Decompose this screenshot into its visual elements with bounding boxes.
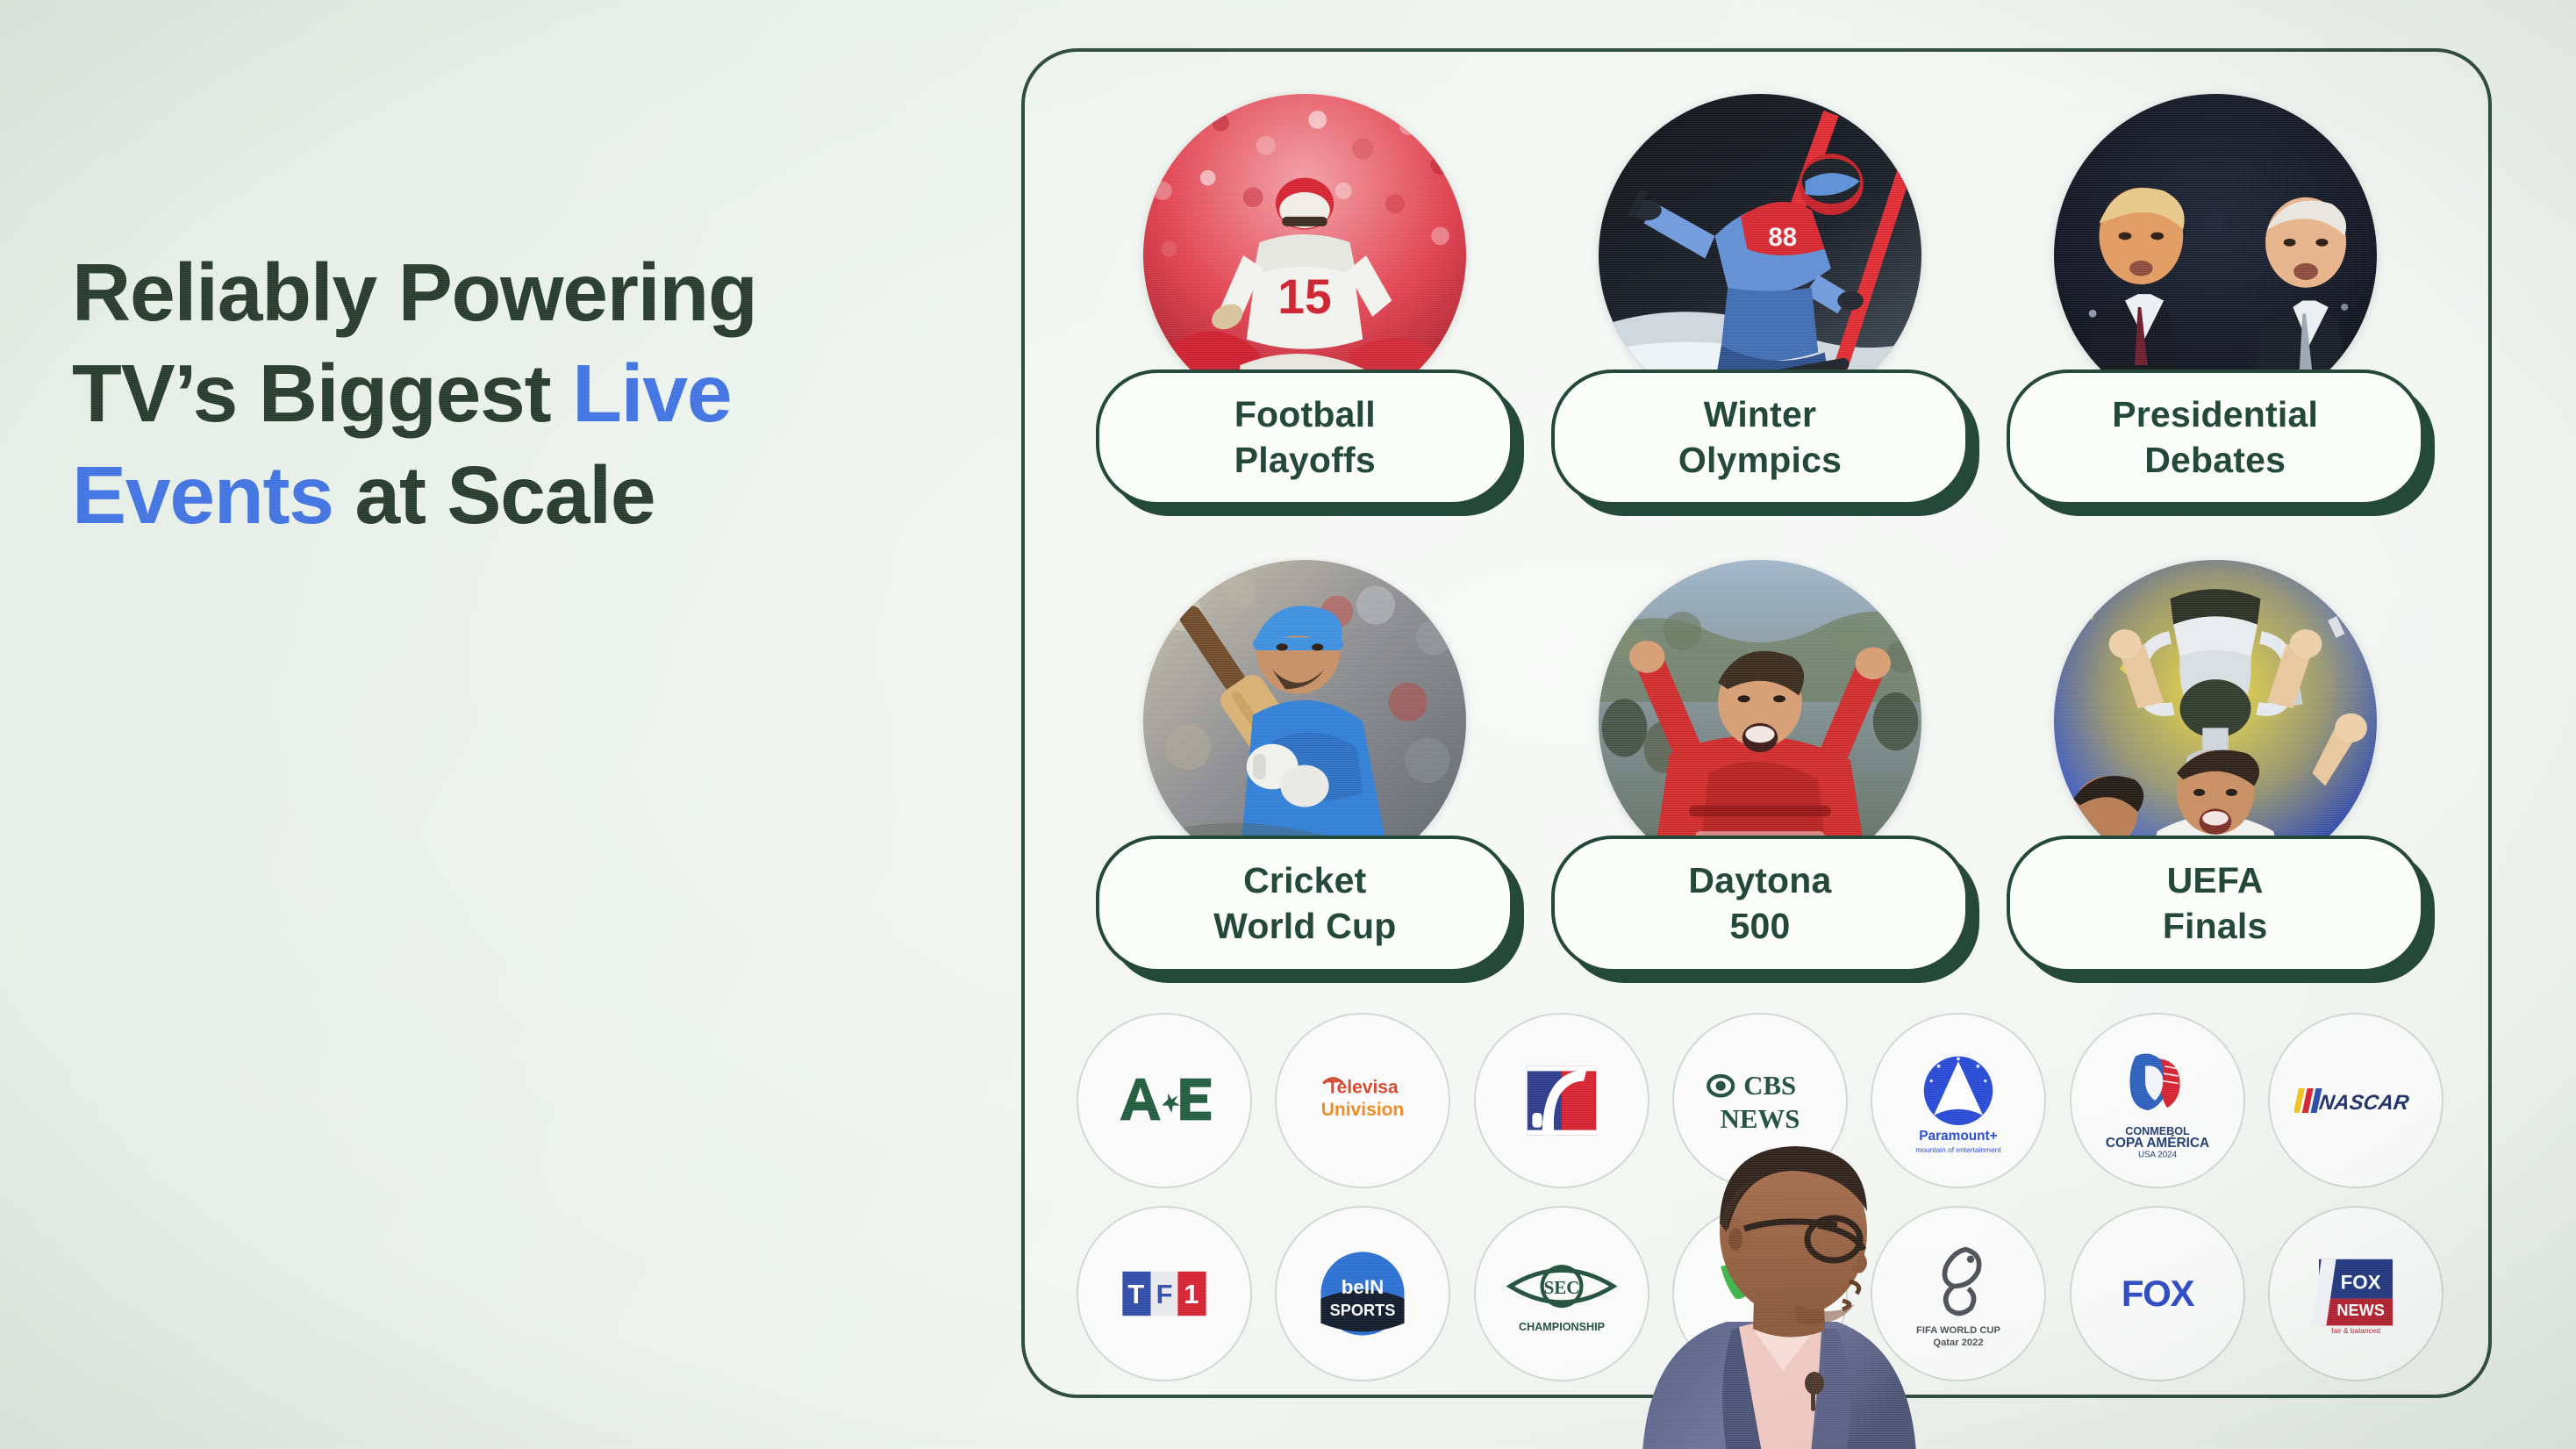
event-label-winter-olympics: WinterOlympics bbox=[1551, 369, 1969, 506]
svg-text:tv azteca: tv azteca bbox=[1727, 1319, 1795, 1337]
sec-championship-logo: SEC CHAMPIONSHIP bbox=[1500, 1232, 1623, 1355]
paramount-plus-logo: Paramount+ mountain of entertainment bbox=[1897, 1039, 2020, 1162]
svg-text:Paramount+: Paramount+ bbox=[1920, 1129, 1998, 1144]
svg-text:mountain of entertainment: mountain of entertainment bbox=[1916, 1145, 2002, 1154]
svg-text:NASCAR: NASCAR bbox=[2317, 1091, 2410, 1115]
tf1-logo: T F 1 bbox=[1103, 1232, 1226, 1355]
televisa-univision-logo: Televisa Univision bbox=[1301, 1039, 1424, 1162]
event-label-daytona-500: Daytona500 bbox=[1551, 836, 1969, 972]
fox-logo: FOX bbox=[2096, 1232, 2219, 1355]
logo-cell-fox-news[interactable]: FOX NEWS fair & balanced bbox=[2268, 1206, 2444, 1381]
svg-text:beIN: beIN bbox=[1342, 1276, 1385, 1298]
svg-text:T: T bbox=[1128, 1279, 1145, 1309]
event-thumbnail-cricket-world-cup bbox=[1143, 560, 1466, 883]
cbs-news-logo: CBS NEWS bbox=[1699, 1039, 1821, 1162]
svg-text:Univision: Univision bbox=[1321, 1100, 1405, 1120]
svg-text:SEC: SEC bbox=[1543, 1277, 1579, 1298]
svg-text:FOX: FOX bbox=[2121, 1273, 2194, 1314]
fifa-world-cup-qatar-logo: FIFA WORLD CUP Qatar 2022 bbox=[1897, 1232, 2020, 1355]
svg-text:CBS: CBS bbox=[1743, 1071, 1796, 1101]
content-panel: 15 FootballPlayoffs bbox=[1021, 48, 2492, 1398]
event-thumbnail-football-playoffs: 15 bbox=[1143, 94, 1466, 417]
copa-america-logo: CONMEBOL COPA AMÉRICA USA 2024 bbox=[2096, 1039, 2219, 1162]
logo-cell-bein-sports[interactable]: beIN SPORTS bbox=[1275, 1206, 1450, 1381]
event-label-football-playoffs: FootballPlayoffs bbox=[1096, 369, 1513, 506]
svg-text:CHAMPIONSHIP: CHAMPIONSHIP bbox=[1519, 1321, 1605, 1333]
headline-line-2: TV’s Biggest Live bbox=[72, 343, 958, 444]
svg-text:fair & balanced: fair & balanced bbox=[2331, 1326, 2380, 1335]
headline-accent-events: Events bbox=[72, 449, 333, 541]
svg-text:COPA AMÉRICA: COPA AMÉRICA bbox=[2105, 1136, 2208, 1151]
event-card-presidential-debates[interactable]: PresidentialDebates bbox=[1991, 94, 2439, 506]
event-thumbnail-winter-olympics: 88 bbox=[1599, 94, 1921, 417]
event-card-daytona-500[interactable]: Daytona500 bbox=[1536, 560, 1985, 972]
logo-cell-tv-azteca[interactable]: tv azteca bbox=[1672, 1206, 1848, 1381]
headline-line-3: Events at Scale bbox=[72, 445, 958, 546]
headline-line-1: Reliably Powering bbox=[72, 242, 958, 343]
bein-sports-logo: beIN SPORTS bbox=[1301, 1232, 1424, 1355]
fox-news-logo: FOX NEWS fair & balanced bbox=[2294, 1232, 2417, 1355]
event-card-winter-olympics[interactable]: 88 bbox=[1536, 94, 1985, 506]
svg-text:15: 15 bbox=[1278, 269, 1332, 324]
logo-cell-nascar[interactable]: NASCAR bbox=[2268, 1013, 2444, 1188]
svg-text:Qatar 2022: Qatar 2022 bbox=[1934, 1338, 1984, 1348]
partner-logo-grid: Televisa Univision bbox=[1065, 1013, 2455, 1381]
tv-azteca-logo: tv azteca bbox=[1699, 1232, 1821, 1355]
ae-logo bbox=[1103, 1039, 1226, 1162]
event-label-cricket-world-cup: CricketWorld Cup bbox=[1096, 836, 1513, 972]
event-label-presidential-debates: PresidentialDebates bbox=[2007, 369, 2424, 506]
logo-cell-copa-america[interactable]: CONMEBOL COPA AMÉRICA USA 2024 bbox=[2070, 1013, 2245, 1188]
svg-text:FOX: FOX bbox=[2340, 1271, 2380, 1293]
logo-cell-tf1[interactable]: T F 1 bbox=[1077, 1206, 1252, 1381]
event-card-football-playoffs[interactable]: 15 FootballPlayoffs bbox=[1081, 94, 1529, 506]
logo-cell-cbs-news[interactable]: CBS NEWS bbox=[1672, 1013, 1848, 1188]
logo-cell-paramount-plus[interactable]: Paramount+ mountain of entertainment bbox=[1871, 1013, 2046, 1188]
svg-text:USA 2024: USA 2024 bbox=[2138, 1150, 2178, 1159]
logo-cell-mlb[interactable] bbox=[1474, 1013, 1649, 1188]
event-label-uefa-finals: UEFAFinals bbox=[2007, 836, 2424, 972]
svg-text:NEWS: NEWS bbox=[2336, 1302, 2385, 1319]
svg-text:SPORTS: SPORTS bbox=[1330, 1302, 1396, 1319]
logo-cell-fox[interactable]: FOX bbox=[2070, 1206, 2245, 1381]
logo-cell-fifa-world-cup-qatar[interactable]: FIFA WORLD CUP Qatar 2022 bbox=[1871, 1206, 2046, 1381]
page-title: Reliably Powering TV’s Biggest Live Even… bbox=[72, 242, 958, 546]
event-card-uefa-finals[interactable]: UEFAFinals bbox=[1991, 560, 2439, 972]
screenshot-root: Reliably Powering TV’s Biggest Live Even… bbox=[0, 0, 2576, 1449]
headline-accent-live: Live bbox=[572, 348, 731, 439]
svg-text:NEWS: NEWS bbox=[1721, 1104, 1800, 1134]
svg-text:1: 1 bbox=[1184, 1279, 1199, 1309]
logo-cell-ae[interactable] bbox=[1077, 1013, 1252, 1188]
svg-text:88: 88 bbox=[1768, 223, 1797, 252]
event-card-cricket-world-cup[interactable]: CricketWorld Cup bbox=[1081, 560, 1529, 972]
mlb-logo bbox=[1500, 1039, 1623, 1162]
event-thumbnail-presidential-debates bbox=[2054, 94, 2377, 417]
svg-text:FIFA WORLD CUP: FIFA WORLD CUP bbox=[1916, 1325, 2000, 1336]
logo-cell-sec-championship[interactable]: SEC CHAMPIONSHIP bbox=[1474, 1206, 1649, 1381]
nascar-logo: NASCAR bbox=[2294, 1039, 2417, 1162]
svg-text:F: F bbox=[1156, 1279, 1173, 1309]
event-card-grid: 15 FootballPlayoffs bbox=[1081, 94, 2439, 972]
event-thumbnail-daytona-500 bbox=[1599, 560, 1921, 883]
event-thumbnail-uefa-finals bbox=[2054, 560, 2377, 883]
logo-cell-televisa-univision[interactable]: Televisa Univision bbox=[1275, 1013, 1450, 1188]
